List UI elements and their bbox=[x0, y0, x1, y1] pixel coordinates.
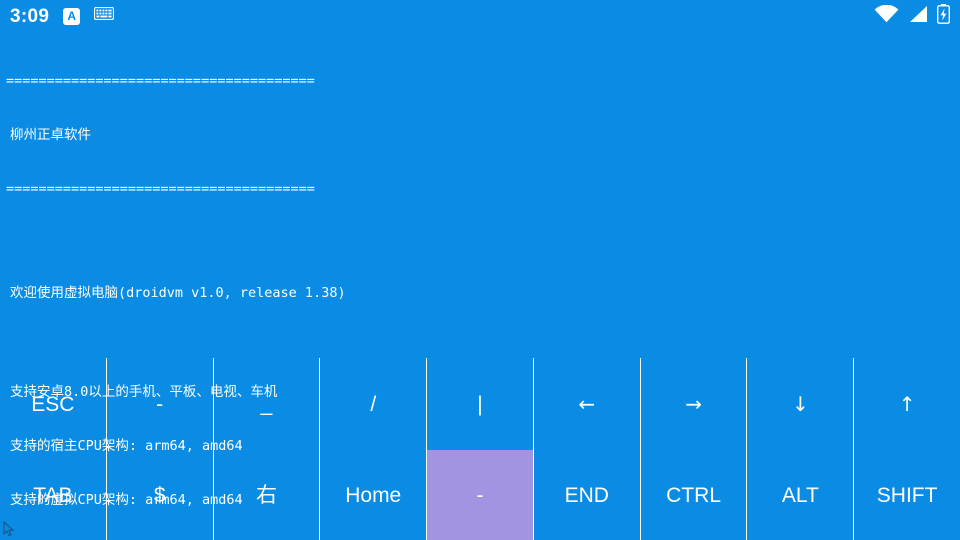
key-sym-top[interactable]: → bbox=[641, 358, 747, 450]
key-sym-top[interactable]: | bbox=[427, 358, 533, 450]
key-sym-top[interactable]: ← bbox=[534, 358, 640, 450]
key-column-7: →CTRL bbox=[640, 358, 747, 540]
key-sym-bot[interactable]: $ bbox=[107, 450, 213, 540]
wifi-icon bbox=[874, 5, 899, 28]
status-bar-right bbox=[874, 4, 950, 29]
mouse-cursor-icon bbox=[3, 521, 15, 537]
key-alt-bot[interactable]: ALT bbox=[747, 450, 853, 540]
app-badge-icon: A bbox=[63, 8, 80, 25]
key-column-3: _右 bbox=[213, 358, 320, 540]
key-esc-top[interactable]: ESC bbox=[0, 358, 106, 450]
key-column-2: -$ bbox=[106, 358, 213, 540]
key-sym-top[interactable]: _ bbox=[214, 358, 320, 450]
keyboard-icon[interactable] bbox=[94, 7, 114, 25]
spacer bbox=[6, 234, 954, 248]
clock: 3:09 bbox=[10, 7, 49, 26]
status-bar-left: 3:09 A bbox=[10, 7, 114, 26]
spacer bbox=[6, 338, 954, 347]
key-sym-bot[interactable]: 右 bbox=[214, 450, 320, 540]
cellular-signal-icon bbox=[908, 5, 928, 28]
key-column-1: ESCTAB bbox=[0, 358, 106, 540]
key-ctrl-bot[interactable]: CTRL bbox=[641, 450, 747, 540]
separator-rule-title: ====================================== bbox=[6, 180, 954, 198]
virtual-keyboard[interactable]: ESCTAB-$_右/Home|-←END→CTRL↓ALT↑SHIFT bbox=[0, 358, 960, 540]
app-title: 柳州正卓软件 bbox=[6, 126, 954, 144]
key-tab-bot[interactable]: TAB bbox=[0, 450, 106, 540]
key-shift-bot[interactable]: SHIFT bbox=[854, 450, 960, 540]
key-column-9: ↑SHIFT bbox=[853, 358, 960, 540]
status-bar: 3:09 A bbox=[0, 0, 960, 32]
key-end-bot[interactable]: END bbox=[534, 450, 640, 540]
key-sym-bot[interactable]: - bbox=[427, 450, 533, 540]
key-sym-top[interactable]: - bbox=[107, 358, 213, 450]
key-column-5: |- bbox=[426, 358, 533, 540]
key-sym-top[interactable]: ↑ bbox=[854, 358, 960, 450]
key-column-8: ↓ALT bbox=[746, 358, 853, 540]
key-sym-top[interactable]: / bbox=[320, 358, 426, 450]
welcome-line: 欢迎使用虚拟电脑(droidvm v1.0, release 1.38) bbox=[6, 284, 954, 302]
key-home-bot[interactable]: Home bbox=[320, 450, 426, 540]
key-column-4: /Home bbox=[319, 358, 426, 540]
key-sym-top[interactable]: ↓ bbox=[747, 358, 853, 450]
battery-charging-icon bbox=[937, 4, 950, 29]
device-screen: 3:09 A bbox=[0, 0, 960, 540]
key-column-6: ←END bbox=[533, 358, 640, 540]
separator-rule-top: ====================================== bbox=[6, 72, 954, 90]
